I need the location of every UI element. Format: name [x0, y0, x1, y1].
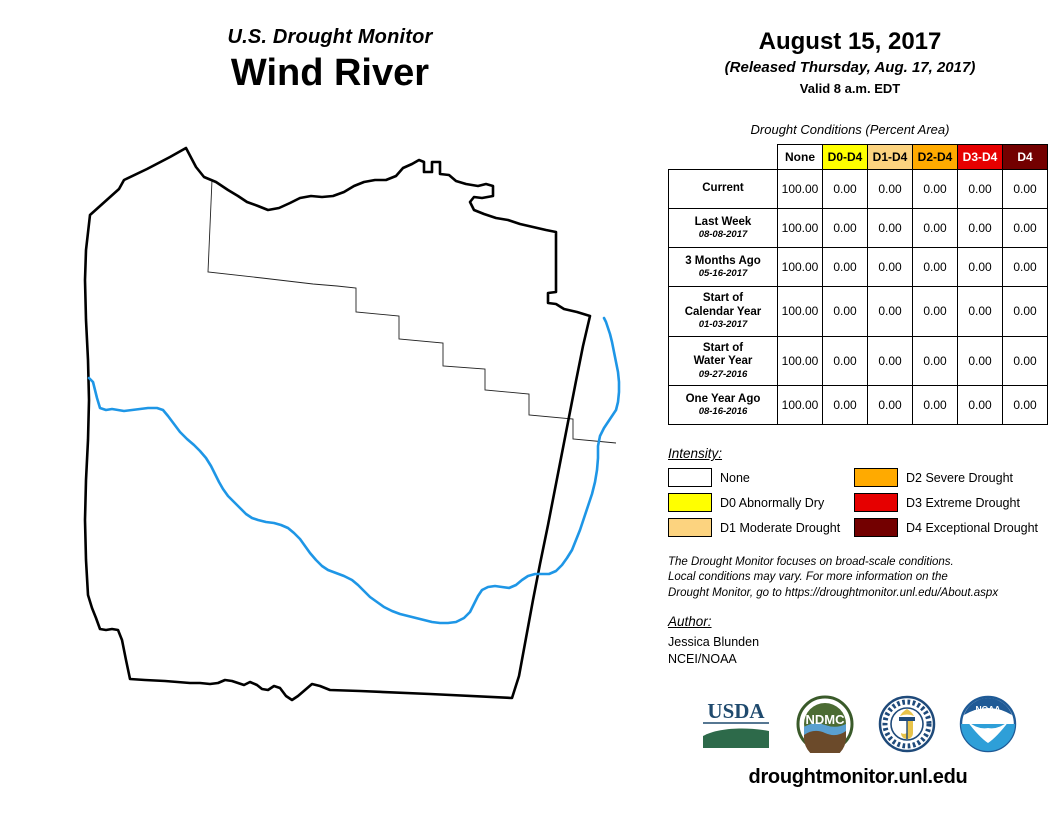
- table-cell: 0.00: [868, 336, 913, 386]
- usda-logo-text: USDA: [707, 699, 765, 723]
- noaa-logo-text: NOAA: [975, 704, 1000, 714]
- swatch-d0-icon: [668, 493, 712, 512]
- map-panel: U.S. Drought Monitor Wind River: [0, 0, 660, 816]
- disclaimer-line-2: Local conditions may vary. For more info…: [668, 570, 1048, 585]
- swatch-none-icon: [668, 468, 712, 487]
- swatch-d4-icon: [854, 518, 898, 537]
- row-label-name: 3 Months Ago: [673, 255, 773, 269]
- table-cell: 0.00: [1003, 209, 1048, 248]
- conditions-table: None D0-D4 D1-D4 D2-D4 D3-D4 D4 Current1…: [668, 144, 1048, 425]
- table-cell: 0.00: [958, 209, 1003, 248]
- table-cell: 0.00: [868, 287, 913, 337]
- valid-date: August 15, 2017: [660, 28, 1040, 56]
- table-cell: 0.00: [823, 287, 868, 337]
- author-affiliation: NCEI/NOAA: [668, 651, 1048, 668]
- column-header-d3: D3-D4: [958, 145, 1003, 170]
- table-cell: 100.00: [778, 336, 823, 386]
- table-cell: 100.00: [778, 287, 823, 337]
- noaa-logo-icon: NOAA: [959, 695, 1017, 753]
- table-cell: 0.00: [868, 386, 913, 425]
- column-header-d0: D0-D4: [823, 145, 868, 170]
- valid-time: Valid 8 a.m. EDT: [660, 81, 1040, 97]
- table-cell: 0.00: [868, 170, 913, 209]
- table-cell: 100.00: [778, 209, 823, 248]
- table-cell: 0.00: [913, 386, 958, 425]
- disclaimer-line-3: Drought Monitor, go to https://droughtmo…: [668, 586, 1048, 601]
- table-cell: 0.00: [1003, 170, 1048, 209]
- column-header-d2: D2-D4: [913, 145, 958, 170]
- legend-item-d3: D3 Extreme Drought: [854, 493, 1044, 512]
- table-cell: 0.00: [1003, 336, 1048, 386]
- table-row: Start ofCalendar Year01-03-2017100.000.0…: [669, 287, 1048, 337]
- table-cell: 0.00: [958, 336, 1003, 386]
- table-cell: 0.00: [1003, 248, 1048, 287]
- row-label-date: 08-08-2017: [673, 229, 773, 240]
- table-row: Current100.000.000.000.000.000.00: [669, 170, 1048, 209]
- intensity-legend: Intensity: None D2 Severe Drought D0 Abn…: [668, 446, 1048, 537]
- row-label-date: 01-03-2017: [673, 319, 773, 330]
- row-label: Current: [669, 170, 778, 209]
- table-cell: 100.00: [778, 386, 823, 425]
- disclaimer-text: The Drought Monitor focuses on broad-sca…: [668, 555, 1048, 601]
- table-cell: 0.00: [1003, 386, 1048, 425]
- page-title: Wind River: [0, 52, 660, 96]
- date-block: August 15, 2017 (Released Thursday, Aug.…: [660, 28, 1040, 96]
- row-label: 3 Months Ago05-16-2017: [669, 248, 778, 287]
- table-cell: 0.00: [958, 248, 1003, 287]
- info-panel: August 15, 2017 (Released Thursday, Aug.…: [660, 0, 1056, 816]
- drought-map[interactable]: [0, 140, 660, 760]
- table-cell: 0.00: [868, 209, 913, 248]
- table-cell: 100.00: [778, 170, 823, 209]
- table-row: One Year Ago08-16-2016100.000.000.000.00…: [669, 386, 1048, 425]
- row-label-name: One Year Ago: [673, 393, 773, 407]
- table-cell: 0.00: [868, 248, 913, 287]
- legend-item-d4: D4 Exceptional Drought: [854, 518, 1044, 537]
- table-cell: 0.00: [823, 209, 868, 248]
- table-cell: 0.00: [958, 386, 1003, 425]
- author-block: Author: Jessica Blunden NCEI/NOAA: [668, 614, 1048, 668]
- column-header-d1: D1-D4: [868, 145, 913, 170]
- swatch-d2-icon: [854, 468, 898, 487]
- legend-item-none: None: [668, 468, 854, 487]
- table-row: Start ofWater Year09-27-2016100.000.000.…: [669, 336, 1048, 386]
- row-label-date: 09-27-2016: [673, 369, 773, 380]
- row-label: Start ofCalendar Year01-03-2017: [669, 287, 778, 337]
- legend-item-d1: D1 Moderate Drought: [668, 518, 854, 537]
- author-title: Author:: [668, 614, 1048, 629]
- table-body: Current100.000.000.000.000.000.00Last We…: [669, 170, 1048, 425]
- column-header-d4: D4: [1003, 145, 1048, 170]
- table-row: 3 Months Ago05-16-2017100.000.000.000.00…: [669, 248, 1048, 287]
- ndmc-logo-icon: NDMC: [795, 695, 855, 753]
- row-label-date: 05-16-2017: [673, 268, 773, 279]
- legend-label-d3: D3 Extreme Drought: [906, 496, 1020, 510]
- table-cell: 0.00: [913, 336, 958, 386]
- released-date: (Released Thursday, Aug. 17, 2017): [660, 59, 1040, 77]
- row-label-name: Start ofWater Year: [673, 342, 773, 369]
- ndmc-logo-text: NDMC: [806, 712, 846, 727]
- swatch-d3-icon: [854, 493, 898, 512]
- row-label-name: Current: [673, 182, 773, 196]
- table-cell: 0.00: [823, 386, 868, 425]
- commerce-seal-icon: [877, 695, 937, 753]
- legend-label-none: None: [720, 471, 750, 485]
- legend-label-d4: D4 Exceptional Drought: [906, 521, 1038, 535]
- table-cell: 0.00: [823, 170, 868, 209]
- table-cell: 0.00: [913, 170, 958, 209]
- table-cell: 0.00: [913, 287, 958, 337]
- table-cell: 0.00: [1003, 287, 1048, 337]
- legend-label-d0: D0 Abnormally Dry: [720, 496, 824, 510]
- legend-grid: None D2 Severe Drought D0 Abnormally Dry…: [668, 468, 1048, 537]
- table-cell: 0.00: [913, 248, 958, 287]
- legend-item-d0: D0 Abnormally Dry: [668, 493, 854, 512]
- row-label-date: 08-16-2016: [673, 406, 773, 417]
- legend-item-d2: D2 Severe Drought: [854, 468, 1044, 487]
- table-cell: 0.00: [823, 248, 868, 287]
- intensity-legend-title: Intensity:: [668, 446, 1048, 461]
- legend-label-d1: D1 Moderate Drought: [720, 521, 840, 535]
- table-cell: 0.00: [823, 336, 868, 386]
- drought-conditions-table: None D0-D4 D1-D4 D2-D4 D3-D4 D4 Current1…: [668, 144, 1048, 425]
- usda-logo-icon: USDA: [699, 696, 773, 752]
- table-cell: 0.00: [958, 287, 1003, 337]
- row-label-name: Last Week: [673, 216, 773, 230]
- program-subtitle: U.S. Drought Monitor: [0, 26, 660, 48]
- map-svg: [0, 140, 660, 760]
- table-cell: 0.00: [958, 170, 1003, 209]
- table-header-row: None D0-D4 D1-D4 D2-D4 D3-D4 D4: [669, 145, 1048, 170]
- region-fill: [85, 148, 590, 698]
- swatch-d1-icon: [668, 518, 712, 537]
- legend-label-d2: D2 Severe Drought: [906, 471, 1013, 485]
- row-label-name: Start ofCalendar Year: [673, 292, 773, 319]
- title-block: U.S. Drought Monitor Wind River: [0, 26, 660, 96]
- logo-row: USDA NDMC: [660, 688, 1056, 760]
- site-url[interactable]: droughtmonitor.unl.edu: [660, 766, 1056, 789]
- table-cell: 100.00: [778, 248, 823, 287]
- row-label: One Year Ago08-16-2016: [669, 386, 778, 425]
- disclaimer-line-1: The Drought Monitor focuses on broad-sca…: [668, 555, 1048, 570]
- author-name: Jessica Blunden: [668, 634, 1048, 651]
- table-caption: Drought Conditions (Percent Area): [660, 122, 1040, 137]
- table-cell: 0.00: [913, 209, 958, 248]
- row-label: Start ofWater Year09-27-2016: [669, 336, 778, 386]
- table-row: Last Week08-08-2017100.000.000.000.000.0…: [669, 209, 1048, 248]
- column-header-none: None: [778, 145, 823, 170]
- row-label: Last Week08-08-2017: [669, 209, 778, 248]
- table-corner-cell: [669, 145, 778, 170]
